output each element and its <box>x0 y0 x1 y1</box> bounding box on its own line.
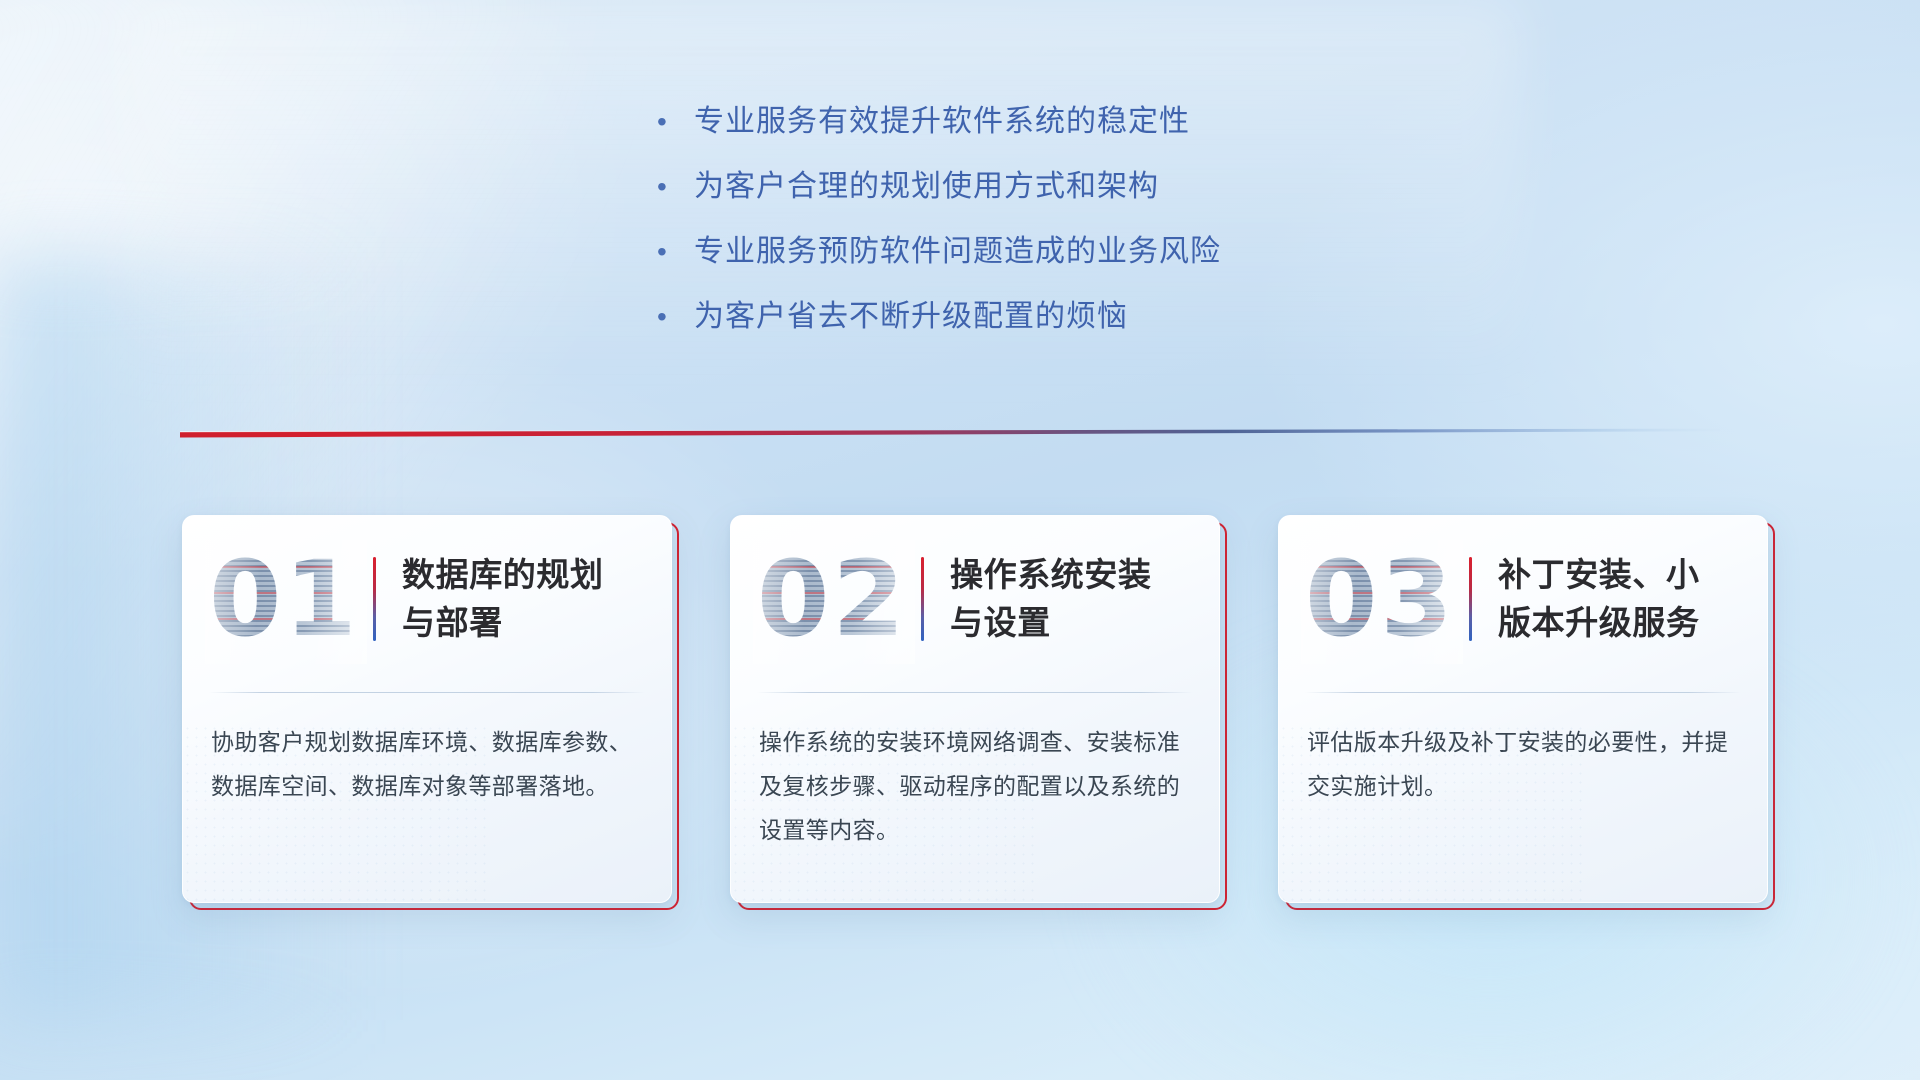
card-body-text: 评估版本升级及补丁安装的必要性，并提交实施计划。 <box>1307 720 1741 808</box>
card-number-ghost-tint: 01 <box>209 540 359 658</box>
card-surface: 01 01 数据库的规划 与部署 协助客户规划数据库环境、数据库参数、数据库空间… <box>182 515 672 903</box>
bullet-item: • 专业服务预防软件问题造成的业务风险 <box>650 230 1410 274</box>
card-header: 01 01 数据库的规划 与部署 <box>183 516 671 681</box>
bullet-item: • 专业服务有效提升软件系统的稳定性 <box>650 100 1410 144</box>
section-divider <box>180 418 1720 444</box>
card-number-ghost: 03 03 <box>1305 540 1455 658</box>
card-number-ghost: 02 02 <box>757 540 907 658</box>
card-number-ghost-tint: 03 <box>1305 540 1455 658</box>
card-title-line: 与部署 <box>402 599 647 647</box>
card-number-ghost-fade <box>1301 540 1463 664</box>
bullet-item-label: 为客户省去不断升级配置的烦恼 <box>694 295 1128 339</box>
card-divider <box>1305 692 1741 693</box>
card-divider <box>209 692 645 693</box>
slide-root: • 专业服务有效提升软件系统的稳定性 • 为客户合理的规划使用方式和架构 • 专… <box>0 0 1920 1080</box>
bullet-dot-icon: • <box>650 295 694 339</box>
bullet-dot-icon: • <box>650 165 694 209</box>
card-accent-bar <box>921 557 924 641</box>
card-title: 补丁安装、小 版本升级服务 <box>1498 551 1743 647</box>
card-number-ghost: 01 01 <box>209 540 359 658</box>
card-body-text: 操作系统的安装环境网络调查、安装标准及复核步骤、驱动程序的配置以及系统的设置等内… <box>759 720 1193 852</box>
bullet-dot-icon: • <box>650 100 694 144</box>
bullet-item: • 为客户合理的规划使用方式和架构 <box>650 165 1410 209</box>
card-accent-bar <box>373 557 376 641</box>
card-number-ghost-tint: 02 <box>757 540 907 658</box>
bullet-item-label: 为客户合理的规划使用方式和架构 <box>694 165 1159 209</box>
benefits-bullet-list: • 专业服务有效提升软件系统的稳定性 • 为客户合理的规划使用方式和架构 • 专… <box>650 100 1410 360</box>
card-title-line: 补丁安装、小 <box>1498 551 1743 599</box>
card-surface: 03 03 补丁安装、小 版本升级服务 评估版本升级及补丁安装的必要性，并提交实… <box>1278 515 1768 903</box>
card-divider <box>757 692 1193 693</box>
card-title: 数据库的规划 与部署 <box>402 551 647 647</box>
bullet-dot-icon: • <box>650 230 694 274</box>
bullet-item-label: 专业服务有效提升软件系统的稳定性 <box>694 100 1190 144</box>
card-title-line: 版本升级服务 <box>1498 599 1743 647</box>
card-header: 02 02 操作系统安装 与设置 <box>731 516 1219 681</box>
card-body-text: 协助客户规划数据库环境、数据库参数、数据库空间、数据库对象等部署落地。 <box>211 720 645 808</box>
card-surface: 02 02 操作系统安装 与设置 操作系统的安装环境网络调查、安装标准及复核步骤… <box>730 515 1220 903</box>
divider-wedge-icon <box>180 418 1720 444</box>
card-accent-bar <box>1469 557 1472 641</box>
service-card[interactable]: 02 02 操作系统安装 与设置 操作系统的安装环境网络调查、安装标准及复核步骤… <box>730 515 1220 903</box>
card-number-ghost-fade <box>205 540 367 664</box>
card-title-line: 操作系统安装 <box>950 551 1195 599</box>
card-title-line: 与设置 <box>950 599 1195 647</box>
card-header: 03 03 补丁安装、小 版本升级服务 <box>1279 516 1767 681</box>
card-number-ghost-fade <box>753 540 915 664</box>
bullet-item: • 为客户省去不断升级配置的烦恼 <box>650 295 1410 339</box>
service-card[interactable]: 01 01 数据库的规划 与部署 协助客户规划数据库环境、数据库参数、数据库空间… <box>182 515 672 903</box>
card-title-line: 数据库的规划 <box>402 551 647 599</box>
service-card[interactable]: 03 03 补丁安装、小 版本升级服务 评估版本升级及补丁安装的必要性，并提交实… <box>1278 515 1768 903</box>
service-card-group: 01 01 数据库的规划 与部署 协助客户规划数据库环境、数据库参数、数据库空间… <box>182 515 1782 915</box>
bullet-item-label: 专业服务预防软件问题造成的业务风险 <box>694 230 1221 274</box>
card-title: 操作系统安装 与设置 <box>950 551 1195 647</box>
